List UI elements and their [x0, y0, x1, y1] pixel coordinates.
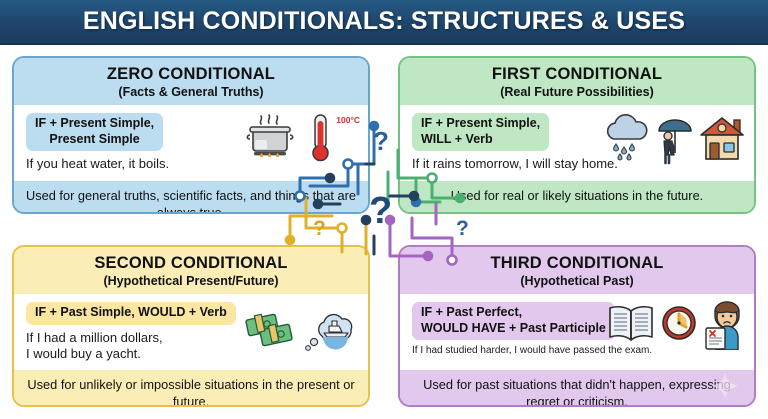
card-first-subtitle: (Real Future Possibilities) [406, 85, 748, 99]
card-first-header: FIRST CONDITIONAL (Real Future Possibili… [400, 58, 754, 105]
card-first-illustration [602, 111, 746, 167]
money-stack-icon [243, 307, 299, 355]
question-mark-top: ? [373, 128, 389, 154]
card-zero-formula-line1: IF + Present Simple, [35, 116, 154, 130]
thought-bubble-yacht-icon [302, 306, 360, 356]
card-zero-header: ZERO CONDITIONAL (Facts & General Truths… [14, 58, 368, 105]
card-second-example-line2: I would buy a yacht. [26, 346, 141, 361]
card-third-formula-line1: IF + Past Perfect, [421, 305, 522, 319]
circuit-trace-blue [300, 126, 374, 196]
question-mark-left: ? [313, 218, 326, 239]
card-third-formula: IF + Past Perfect, WOULD HAVE + Past Par… [412, 302, 615, 340]
card-third-usage: Used for past situations that didn't hap… [400, 370, 754, 407]
circuit-trace-purple [390, 204, 452, 260]
card-third-body: IF + Past Perfect, WOULD HAVE + Past Par… [400, 294, 754, 370]
card-second-body: IF + Past Simple, WOULD + Verb If I had … [14, 294, 368, 370]
open-book-icon [606, 300, 656, 348]
card-third-formula-line2: WOULD HAVE + Past Participle [421, 321, 606, 335]
question-mark-center: ? [369, 192, 392, 230]
card-zero-title: ZERO CONDITIONAL [20, 65, 362, 84]
question-mark-right: ? [456, 218, 469, 239]
card-second-example-line1: If I had a million dollars, [26, 330, 163, 345]
circuit-trace-yellow [290, 198, 366, 254]
card-zero-subtitle: (Facts & General Truths) [20, 85, 362, 99]
rain-cloud-icon [602, 113, 652, 165]
house-icon [698, 113, 746, 165]
page-header: ENGLISH CONDITIONALS: STRUCTURES & USES [0, 0, 768, 45]
card-first-title: FIRST CONDITIONAL [406, 65, 748, 84]
card-zero-formula-line2: Present Simple [49, 132, 139, 146]
card-second-usage: Used for unlikely or impossible situatio… [14, 370, 368, 407]
card-third-illustration [606, 298, 746, 350]
page-title: ENGLISH CONDITIONALS: STRUCTURES & USES [83, 7, 685, 36]
clock-icon [659, 302, 699, 346]
circuit-trace-green [388, 150, 460, 202]
sad-student-exam-icon [702, 298, 746, 350]
card-second-illustration [243, 306, 360, 356]
person-with-umbrella-icon [655, 111, 695, 167]
card-zero-formula: IF + Present Simple, Present Simple [26, 113, 163, 151]
card-second-formula: IF + Past Simple, WOULD + Verb [26, 302, 236, 325]
